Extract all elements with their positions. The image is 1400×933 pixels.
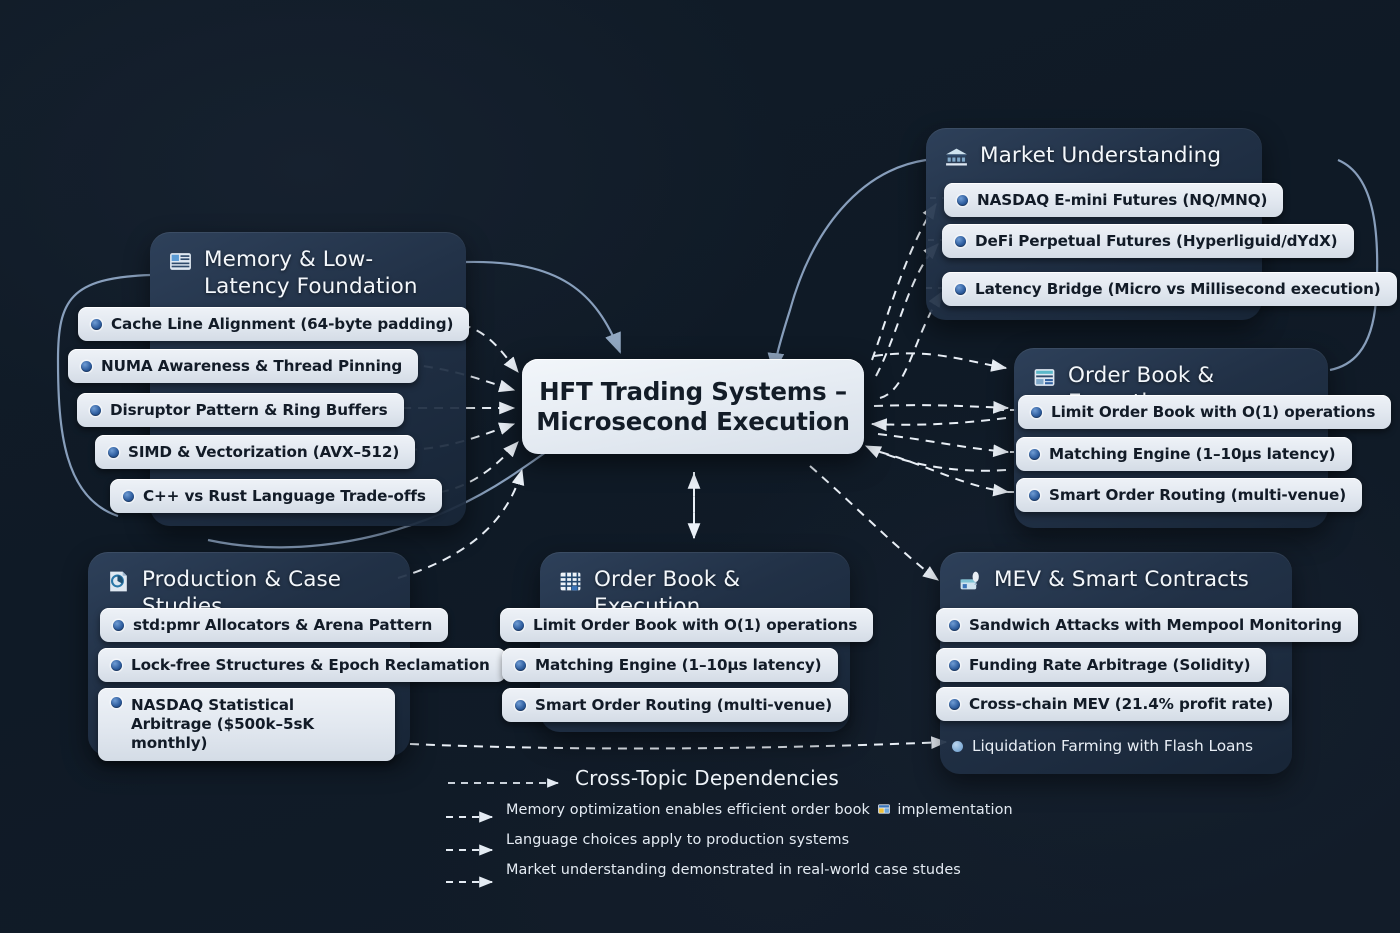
pill-label: Cache Line Alignment (64-byte padding) xyxy=(111,315,453,333)
group-header: Market Understanding xyxy=(926,128,1262,178)
order-book-panel-icon xyxy=(1032,365,1057,390)
legend-arrows xyxy=(430,760,1030,890)
pill-label: SIMD & Vectorization (AVX–512) xyxy=(128,443,399,461)
pill-mev-2[interactable]: Cross-chain MEV (21.4% profit rate) xyxy=(936,687,1289,721)
pill-label: DeFi Perpetual Futures (Hyperliguid/dYdX… xyxy=(975,232,1338,250)
pill-orderbook-right-2[interactable]: Smart Order Routing (multi-venue) xyxy=(1016,478,1362,512)
pill-label: Lock-free Structures & Epoch Reclamation xyxy=(131,656,490,674)
mindmap-canvas: Memory & Low-Latency Foundation Cache Li… xyxy=(0,0,1400,933)
memory-card-icon xyxy=(168,249,193,274)
pill-label: Latency Bridge (Micro vs Millisecond exe… xyxy=(975,280,1381,298)
pill-production-0[interactable]: std:pmr Allocators & Arena Pattern xyxy=(100,608,448,642)
bullet-dot xyxy=(515,700,526,711)
mev-contract-icon xyxy=(958,569,983,594)
pill-label: Limit Order Book with O(1) operations xyxy=(533,616,857,634)
bullet-dot xyxy=(949,620,960,631)
bullet-dot xyxy=(949,699,960,710)
pill-production-1[interactable]: Lock-free Structures & Epoch Reclamation xyxy=(98,648,506,682)
bullet-dot xyxy=(1029,490,1040,501)
pill-memory-2[interactable]: Disruptor Pattern & Ring Buffers xyxy=(77,393,404,427)
pill-mev-0[interactable]: Sandwich Attacks with Mempool Monitoring xyxy=(936,608,1358,642)
bullet-dot xyxy=(90,405,101,416)
bullet-dot xyxy=(81,361,92,372)
pill-mev-3[interactable]: Liquidation Farming with Flash Loans xyxy=(946,729,1269,763)
pill-market-1[interactable]: DeFi Perpetual Futures (Hyperliguid/dYdX… xyxy=(942,224,1354,258)
pill-mev-1[interactable]: Funding Rate Arbitrage (Solidity) xyxy=(936,648,1266,682)
pill-orderbook-bottom-1[interactable]: Matching Engine (1–10μs latency) xyxy=(502,648,838,682)
bullet-dot xyxy=(949,660,960,671)
bullet-dot xyxy=(513,620,524,631)
grid-table-icon xyxy=(558,569,583,594)
group-title: Memory & Low-Latency Foundation xyxy=(204,246,446,300)
bullet-dot xyxy=(113,620,124,631)
pill-label: NASDAQ E-mini Futures (NQ/MNQ) xyxy=(977,191,1267,209)
bullet-dot xyxy=(111,660,122,671)
pill-memory-1[interactable]: NUMA Awareness & Thread Pinning xyxy=(68,349,418,383)
group-header: Memory & Low-Latency Foundation xyxy=(150,232,466,308)
pill-label: Matching Engine (1–10μs latency) xyxy=(1049,445,1336,463)
pill-label: NASDAQ Statistical Arbitrage ($500k–5sK … xyxy=(131,696,379,753)
bullet-dot xyxy=(1031,407,1042,418)
pill-label: Liquidation Farming with Flash Loans xyxy=(972,737,1253,755)
bullet-dot xyxy=(957,195,968,206)
pill-memory-4[interactable]: C++ vs Rust Language Trade-offs xyxy=(110,479,442,513)
pill-label: Smart Order Routing (multi-venue) xyxy=(535,696,832,714)
bank-building-icon xyxy=(944,145,969,170)
pill-label: Funding Rate Arbitrage (Solidity) xyxy=(969,656,1250,674)
group-title: Market Understanding xyxy=(980,142,1221,169)
pill-market-2[interactable]: Latency Bridge (Micro vs Millisecond exe… xyxy=(942,272,1397,306)
case-study-doc-icon xyxy=(106,569,131,594)
bullet-dot xyxy=(1029,449,1040,460)
pill-market-0[interactable]: NASDAQ E-mini Futures (NQ/MNQ) xyxy=(944,183,1283,217)
pill-label: NUMA Awareness & Thread Pinning xyxy=(101,357,402,375)
group-header: MEV & Smart Contracts xyxy=(940,552,1292,602)
center-node-title: HFT Trading Systems – Microsecond Execut… xyxy=(522,377,864,437)
bullet-dot xyxy=(955,284,966,295)
bullet-dot xyxy=(108,447,119,458)
pill-label: Disruptor Pattern & Ring Buffers xyxy=(110,401,388,419)
pill-label: Sandwich Attacks with Mempool Monitoring xyxy=(969,616,1342,634)
pill-memory-3[interactable]: SIMD & Vectorization (AVX–512) xyxy=(95,435,415,469)
pill-label: C++ vs Rust Language Trade-offs xyxy=(143,487,426,505)
pill-memory-0[interactable]: Cache Line Alignment (64-byte padding) xyxy=(78,307,469,341)
pill-production-2[interactable]: NASDAQ Statistical Arbitrage ($500k–5sK … xyxy=(98,688,395,761)
pill-label: Matching Engine (1–10μs latency) xyxy=(535,656,822,674)
bullet-dot xyxy=(91,319,102,330)
pill-label: std:pmr Allocators & Arena Pattern xyxy=(133,616,432,634)
pill-orderbook-right-0[interactable]: Limit Order Book with O(1) operations xyxy=(1018,395,1391,429)
pill-label: Smart Order Routing (multi-venue) xyxy=(1049,486,1346,504)
group-title: MEV & Smart Contracts xyxy=(994,566,1249,593)
bullet-dot xyxy=(123,491,134,502)
bullet-dot xyxy=(955,236,966,247)
bullet-dot xyxy=(111,697,122,708)
pill-orderbook-right-1[interactable]: Matching Engine (1–10μs latency) xyxy=(1016,437,1352,471)
pill-orderbook-bottom-2[interactable]: Smart Order Routing (multi-venue) xyxy=(502,688,848,722)
bullet-dot xyxy=(515,660,526,671)
pill-label: Cross-chain MEV (21.4% profit rate) xyxy=(969,695,1273,713)
pill-label: Limit Order Book with O(1) operations xyxy=(1051,403,1375,421)
center-node[interactable]: HFT Trading Systems – Microsecond Execut… xyxy=(522,359,864,454)
bullet-dot xyxy=(952,741,963,752)
pill-orderbook-bottom-0[interactable]: Limit Order Book with O(1) operations xyxy=(500,608,873,642)
